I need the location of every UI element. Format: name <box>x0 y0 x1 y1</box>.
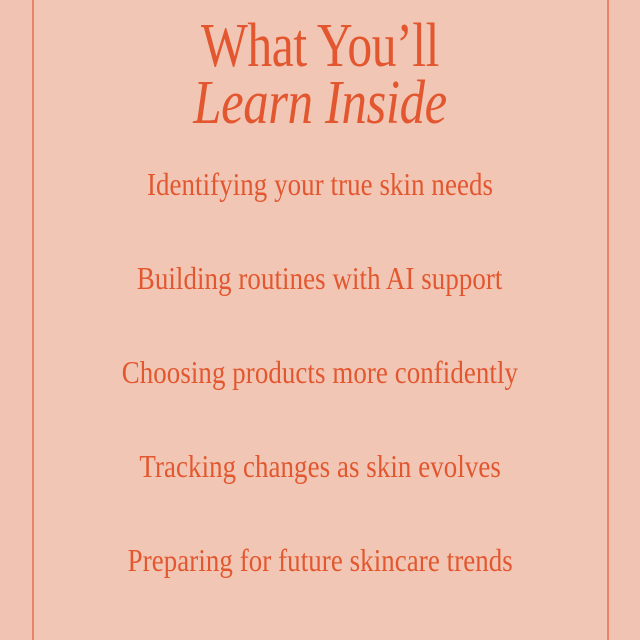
benefit-list: Identifying your true skin needs Buildin… <box>0 160 640 630</box>
list-item: Tracking changes as skin evolves <box>0 442 640 536</box>
list-item-label: Building routines with AI support <box>137 254 503 302</box>
list-item: Preparing for future skincare trends <box>0 536 640 630</box>
poster-canvas: What You’ll Learn Inside Identifying you… <box>0 0 640 640</box>
list-item: Identifying your true skin needs <box>0 160 640 254</box>
list-item: Building routines with AI support <box>0 254 640 348</box>
list-item-label: Identifying your true skin needs <box>147 160 493 208</box>
title-line-secondary: Learn Inside <box>58 73 583 134</box>
title-line-primary: What You’ll <box>64 16 576 77</box>
list-item-label: Choosing products more confidently <box>122 348 518 396</box>
page-title: What You’ll Learn Inside <box>0 16 640 134</box>
list-item-label: Preparing for future skincare trends <box>127 536 512 584</box>
list-item: Choosing products more confidently <box>0 348 640 442</box>
list-item-label: Tracking changes as skin evolves <box>139 442 501 490</box>
